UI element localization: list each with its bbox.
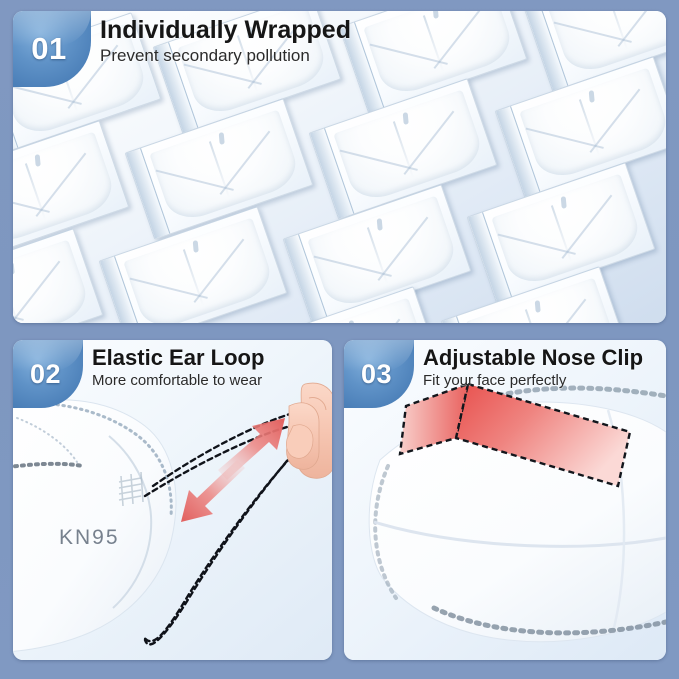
nose-clip-photo <box>344 340 666 660</box>
ear-loop-photo: KN95 <box>13 340 332 660</box>
nose-clip-illustration <box>344 340 666 660</box>
feature-panel-elastic-ear-loop: KN95 02 Elastic Ear Loop More comfortabl… <box>13 340 332 660</box>
wrapped-masks-photo <box>13 11 666 323</box>
feature-panel-adjustable-nose-clip: 03 Adjustable Nose Clip Fit your face pe… <box>344 340 666 660</box>
ear-loop-illustration <box>13 340 332 660</box>
hand-fingers <box>286 383 332 478</box>
mask-print-kn95: KN95 <box>59 526 120 550</box>
product-feature-infographic: 01 Individually Wrapped Prevent secondar… <box>0 0 679 679</box>
feature-panel-individually-wrapped: 01 Individually Wrapped Prevent secondar… <box>13 11 666 323</box>
